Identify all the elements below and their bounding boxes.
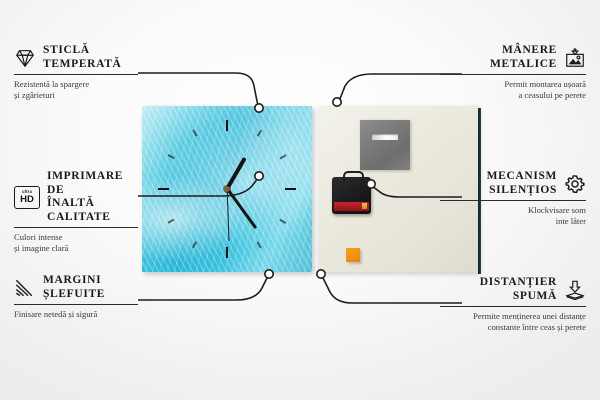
product-photo (142, 106, 478, 272)
feature-sub-line1: Finisare netedă și sigură (14, 309, 97, 319)
hanger-slot (372, 134, 398, 140)
feature-title-line2: SILENȚIOS (489, 184, 557, 196)
divider (14, 227, 138, 228)
clock-mechanism (332, 177, 371, 214)
feature-title-line1: DISTANȚIER (480, 276, 557, 288)
feature-title-line1: MÂNERE (502, 44, 557, 56)
feature-imprimare-hd: ultra HD IMPRIMARE DE ÎNALTĂ CALITATE Cu… (14, 170, 138, 254)
wall-mount-picture-icon (564, 47, 586, 69)
battery (334, 202, 369, 211)
feature-sub-line2: și zgârieturi (14, 90, 55, 100)
feature-distantier-spuma: DISTANȚIER SPUMĂ Permite menținerea unei… (440, 276, 586, 333)
divider (440, 306, 586, 307)
hand-cap (224, 186, 230, 192)
badge-hd-label: HD (20, 195, 34, 205)
feature-margini-slefuite: MARGINI ȘLEFUITE Finisare netedă și sigu… (14, 274, 138, 320)
feature-sticla-temperata: STICLĂ TEMPERATĂ Rezistentă la spargere … (14, 44, 138, 101)
divider (440, 200, 586, 201)
feature-title-line2: TEMPERATĂ (43, 58, 121, 70)
feature-sub-line1: Rezistentă la spargere (14, 79, 89, 89)
minute-hand (226, 188, 258, 230)
clock-dial (142, 106, 312, 272)
feature-sub-line2: și imagine clară (14, 243, 68, 253)
press-down-foam-icon (564, 279, 586, 301)
diamond-icon (14, 47, 36, 69)
divider (14, 304, 138, 305)
feature-sub-line2: a ceasului pe perete (518, 90, 586, 100)
ultra-hd-icon: ultra HD (14, 186, 40, 209)
hour-hand (225, 157, 246, 190)
feature-title-line2: METALICE (490, 58, 557, 70)
feature-sub-line1: Permite menținerea unei distanțe (473, 311, 586, 321)
feature-title-line1: MARGINI (43, 274, 101, 286)
mechanism-hanger-loop (343, 171, 364, 181)
polished-edges-icon (14, 277, 36, 299)
feature-title-line1: MECANISM (487, 170, 557, 182)
feature-title-line2: SPUMĂ (513, 290, 557, 302)
infographic-canvas: STICLĂ TEMPERATĂ Rezistentă la spargere … (0, 0, 600, 400)
gear-icon (564, 173, 586, 195)
feature-manere-metalice: MÂNERE METALICE Permit montarea ușoară a… (440, 44, 586, 101)
feature-sub-line2: inte låter (556, 216, 586, 226)
feature-title-line1: IMPRIMARE DE (47, 170, 123, 196)
feature-title-line2: ȘLEFUITE (43, 288, 105, 300)
feature-sub-line1: Permit montarea ușoară (504, 79, 586, 89)
second-hand (226, 189, 229, 241)
feature-title-line2: ÎNALTĂ CALITATE (47, 197, 111, 223)
divider (440, 74, 586, 75)
feature-sub-line2: constante între ceas și perete (488, 322, 586, 332)
foam-spacer-pad (346, 248, 360, 262)
feature-sub-line1: Culori intense (14, 232, 62, 242)
feature-title-line1: STICLĂ (43, 44, 90, 56)
feature-mecanism-silentios: MECANISM SILENȚIOS Klockvisare som inte … (440, 170, 586, 227)
divider (14, 74, 138, 75)
metal-hanger-bracket (360, 120, 410, 170)
feature-sub-line1: Klockvisare som (528, 205, 586, 215)
